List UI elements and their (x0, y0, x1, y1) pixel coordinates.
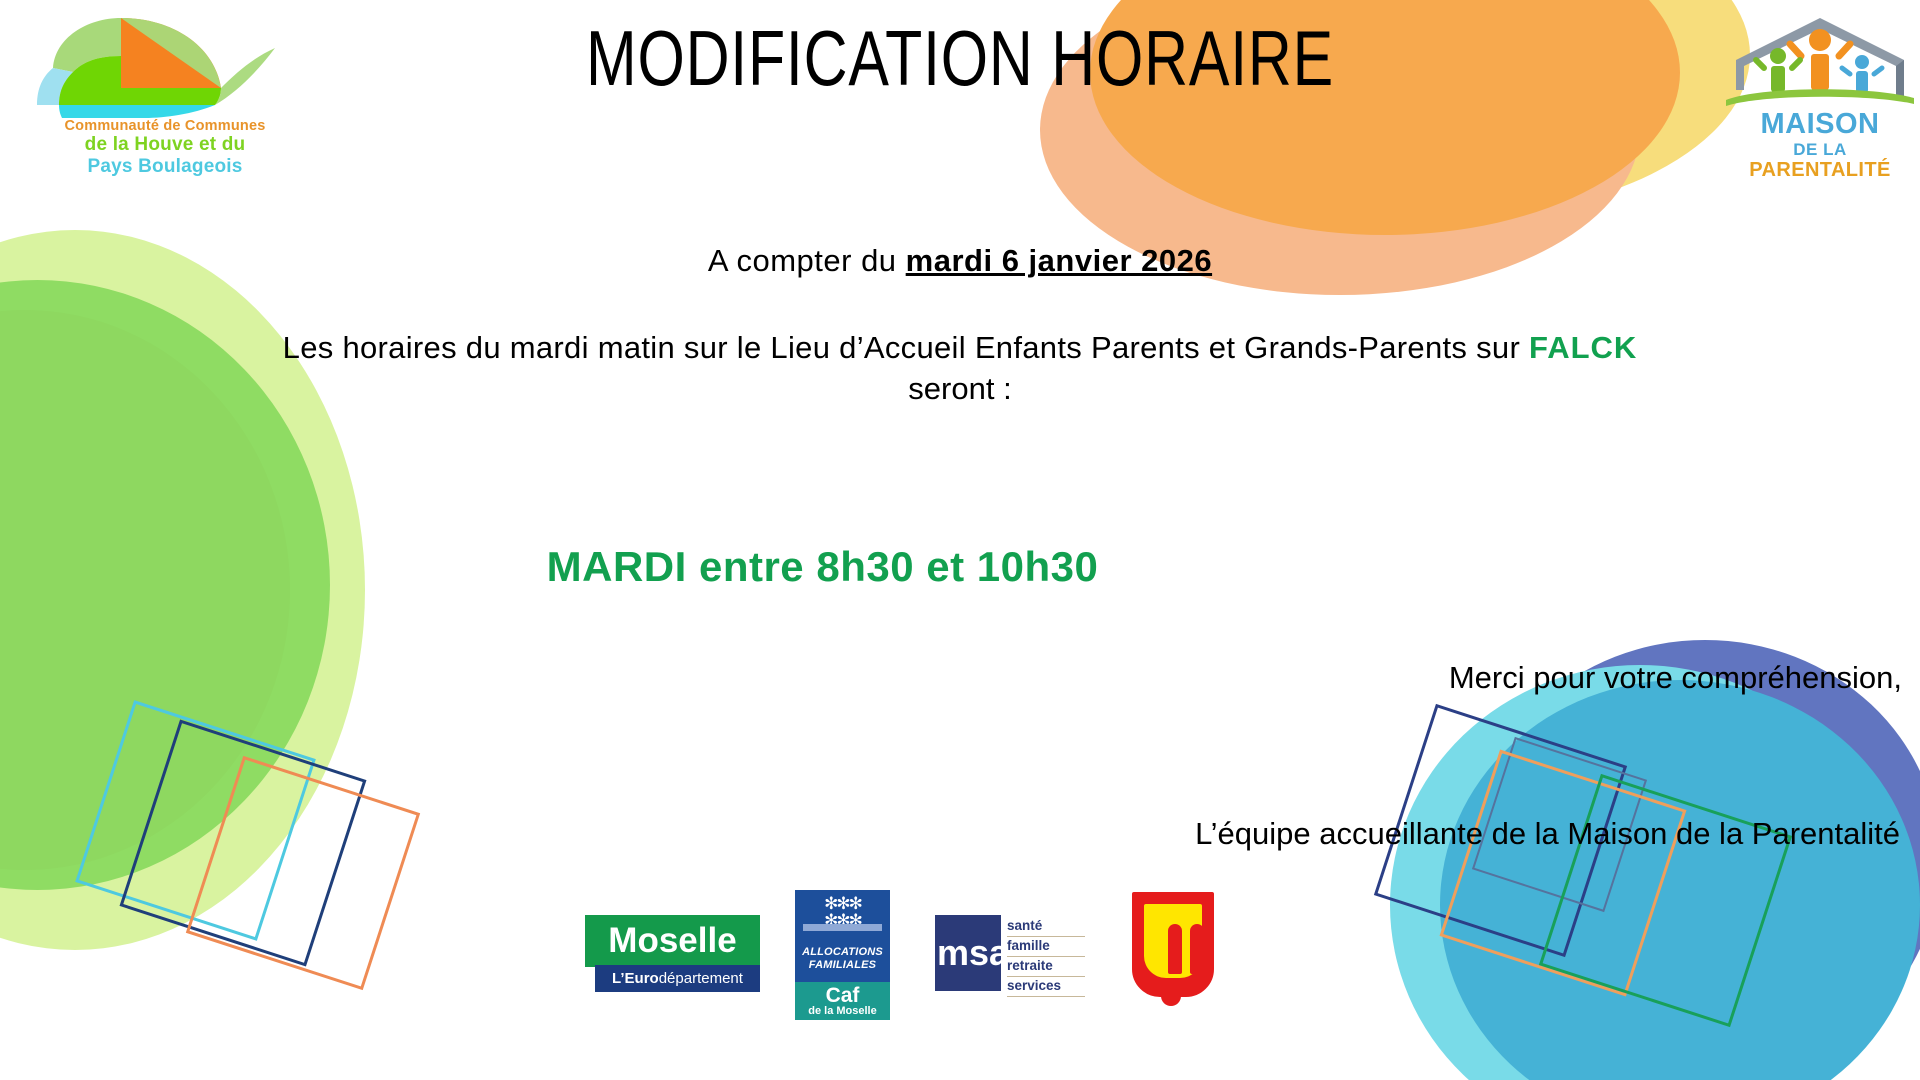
moselle-sub-bold: L’Euro (612, 970, 659, 987)
msa-mark: msa (935, 915, 1001, 991)
effective-date-line: A compter du mardi 6 janvier 2026 (0, 243, 1920, 279)
caf-line1: ALLOCATIONS (802, 946, 883, 958)
square-outline-green-right (1539, 774, 1792, 1027)
partner-logos: Moselle L’Eurodépartement ✻✻✻✻✻✻ ALLOCAT… (585, 890, 1275, 1030)
logo-msa: msa santé famille retraite services (935, 915, 1085, 993)
mdp-line3: PARENTALITÉ (1722, 160, 1918, 180)
page-title: MODIFICATION HORAIRE (211, 18, 1709, 100)
effective-date: mardi 6 janvier 2026 (906, 243, 1212, 278)
schedule-sentence-line: Les horaires du mardi matin sur le Lieu … (0, 330, 1920, 366)
effective-prefix: A compter du (708, 243, 906, 278)
blue-blob (1440, 680, 1920, 1080)
shield-field-icon (1144, 904, 1202, 978)
square-outline-orange-right (1440, 750, 1687, 997)
caf-line2: FAMILIALES (809, 959, 876, 971)
indigo-blob (1470, 640, 1920, 1080)
mdp-line1: MAISON (1722, 110, 1918, 139)
shield-charge-left-icon (1168, 924, 1182, 974)
logo-moselle: Moselle L’Eurodépartement (585, 915, 760, 993)
square-outline-orange-left (186, 756, 420, 990)
logo-maison-de-la-parentalite: MAISON DE LA PARENTALITÉ (1722, 8, 1918, 188)
caf-family-icon: ✻✻✻✻✻✻ (795, 895, 890, 941)
msa-word-1: santé (1007, 917, 1085, 937)
msa-wordlist: santé famille retraite services (1007, 917, 1085, 997)
shield-charge-right-icon (1190, 924, 1204, 974)
msa-word-4: services (1007, 977, 1085, 997)
thanks-line: Merci pour votre compréhension, (0, 660, 1920, 696)
msa-word-3: retraite (1007, 957, 1085, 977)
mdp-wordmark: MAISON DE LA PARENTALITÉ (1722, 110, 1918, 180)
house-family-icon (1722, 8, 1918, 113)
new-hours-highlight: MARDI entre 8h30 et 10h30 (0, 543, 1920, 591)
cchpb-line3: Pays Boulageois (45, 156, 285, 177)
moselle-subtitle: L’Eurodépartement (595, 965, 760, 992)
cchpb-wordmark: Communauté de Communes de la Houve et du… (45, 118, 285, 177)
caf-allocations: ALLOCATIONS FAMILIALES (795, 946, 890, 972)
cchpb-line2: de la Houve et du (45, 134, 285, 155)
shield-outline-icon (1130, 890, 1216, 999)
location-falck: FALCK (1529, 330, 1637, 365)
poster-canvas: Communauté de Communes de la Houve et du… (0, 0, 1920, 1080)
will-be-line: seront : (0, 371, 1920, 407)
mdp-line2: DE LA (1722, 141, 1918, 158)
signature-line: L’équipe accueillante de la Maison de la… (0, 816, 1920, 852)
moselle-name: Moselle (585, 915, 760, 967)
moselle-sub-rest: département (659, 970, 743, 987)
logo-caf: ✻✻✻✻✻✻ ALLOCATIONS FAMILIALES Caf de la … (795, 890, 890, 1020)
caf-divider (803, 924, 882, 931)
cyan-blob (1390, 665, 1890, 1080)
shield-point-icon (1161, 988, 1181, 1006)
msa-mark-text: msa (937, 917, 999, 989)
caf-department: de la Moselle (795, 1005, 890, 1017)
cchpb-line1: Communauté de Communes (45, 118, 285, 134)
schedule-sentence: Les horaires du mardi matin sur le Lieu … (283, 330, 1529, 365)
logo-blason-shield (1130, 890, 1212, 1018)
msa-word-2: famille (1007, 937, 1085, 957)
